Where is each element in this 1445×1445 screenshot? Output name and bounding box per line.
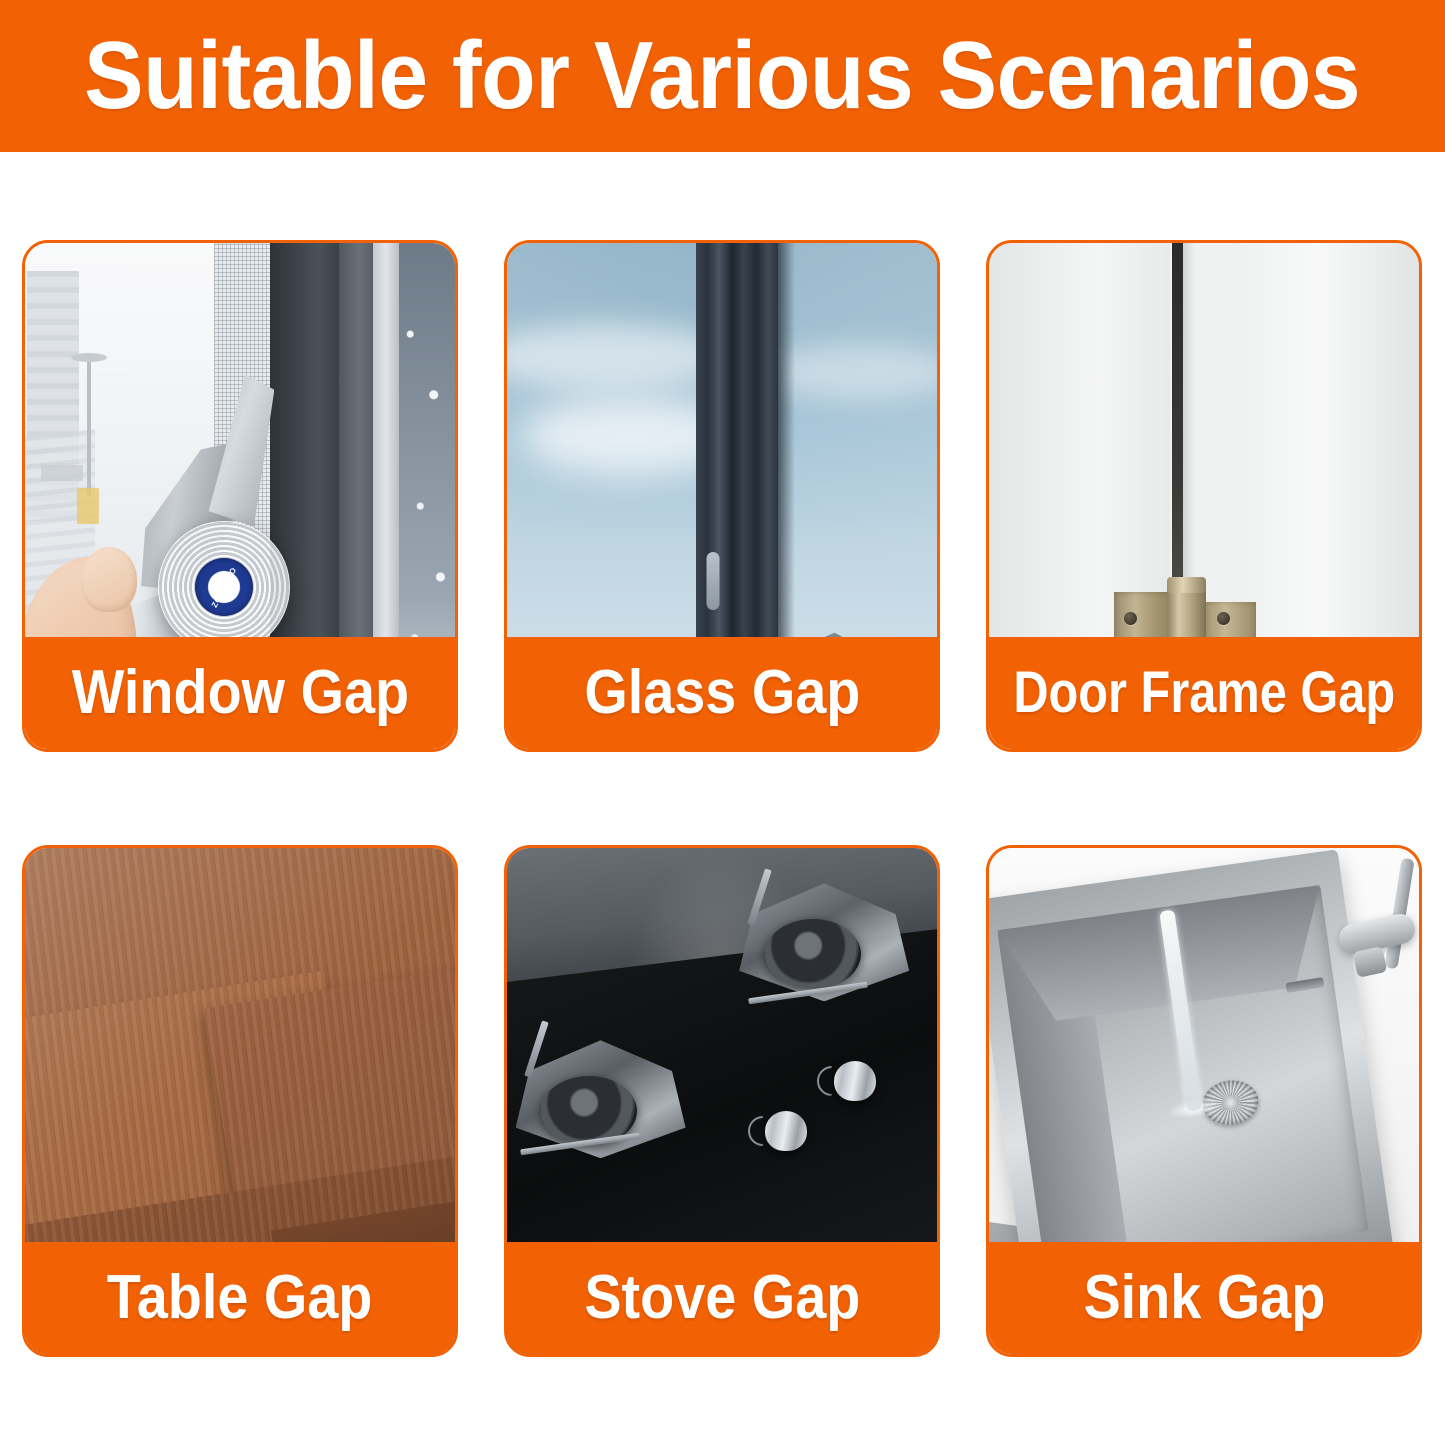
scenario-card-table-gap[interactable]: Table Gap	[22, 845, 458, 1357]
table-gap-label-bar: Table Gap	[25, 1242, 455, 1354]
hinge-cap	[1167, 577, 1206, 593]
scenario-card-door-frame-gap[interactable]: Door Frame Gap	[986, 240, 1422, 752]
infographic-page: Suitable for Various Scenarios	[0, 0, 1445, 1445]
door-handle	[707, 552, 720, 610]
sink-gap-label: Sink Gap	[1083, 1267, 1325, 1329]
thumb	[81, 547, 137, 613]
window-gap-label-bar: Window Gap	[25, 637, 455, 749]
street-sign-yellow	[77, 488, 99, 524]
glass-gap-label-bar: Glass Gap	[507, 637, 937, 749]
door-frame-gap-label: Door Frame Gap	[1013, 664, 1395, 722]
window-gap-label: Window Gap	[71, 662, 408, 724]
street-lamp-icon	[87, 361, 91, 496]
door-frame-gap-label-bar: Door Frame Gap	[989, 637, 1419, 749]
street-sign-board	[41, 465, 83, 481]
stove-control-knob[interactable]	[834, 1061, 876, 1101]
drain-core	[1220, 1095, 1240, 1111]
sink-gap-label-bar: Sink Gap	[989, 1242, 1419, 1354]
tape-brand-text: ZOMPAGO	[210, 566, 239, 609]
scenario-card-sink-gap[interactable]: Sink Gap	[986, 845, 1422, 1357]
stove-gap-label: Stove Gap	[584, 1267, 860, 1329]
tape-roll: ZOMPAGO	[158, 521, 290, 653]
scenario-card-grid: ZOMPAGO Window Gap	[22, 240, 1423, 1357]
table-gap-label: Table Gap	[107, 1267, 373, 1329]
stove-control-knob[interactable]	[765, 1111, 807, 1151]
page-title: Suitable for Various Scenarios	[84, 28, 1360, 124]
basin-interior	[997, 886, 1368, 1276]
door-gap-line	[1172, 243, 1183, 592]
glass-gap-label: Glass Gap	[584, 662, 860, 724]
scenario-card-stove-gap[interactable]: Stove Gap	[504, 845, 940, 1357]
header-banner: Suitable for Various Scenarios	[0, 0, 1445, 152]
tape-roll-brand-label: ZOMPAGO	[195, 558, 253, 616]
stove-gap-label-bar: Stove Gap	[507, 1242, 937, 1354]
scenario-card-glass-gap[interactable]: Glass Gap	[504, 240, 940, 752]
scenario-card-window-gap[interactable]: ZOMPAGO Window Gap	[22, 240, 458, 752]
burner-right	[765, 919, 861, 989]
